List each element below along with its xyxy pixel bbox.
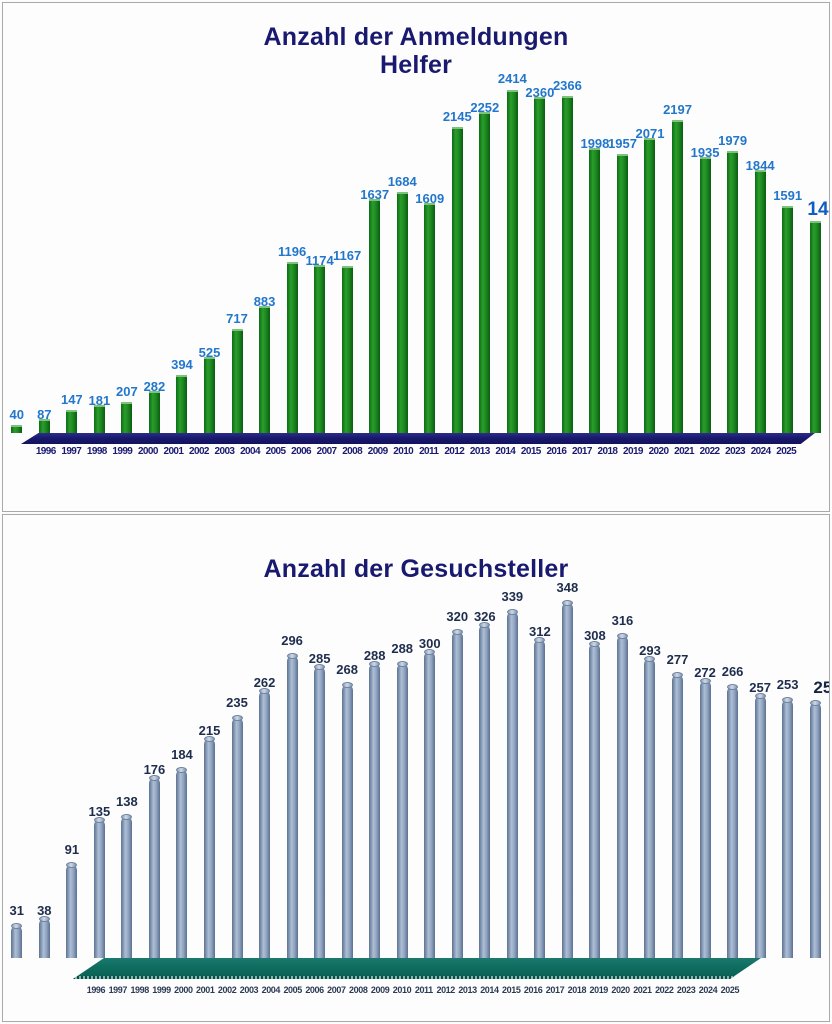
bar-slot: 296 xyxy=(278,603,306,958)
x-axis-tick: 2008 xyxy=(347,985,369,995)
bar xyxy=(479,625,490,958)
bar xyxy=(507,612,518,958)
bar xyxy=(644,659,655,958)
bar xyxy=(397,193,408,433)
x-axis-tick: 2008 xyxy=(339,446,365,457)
bar-slot: 1957 xyxy=(609,91,637,433)
bar-value-label: 1957 xyxy=(608,136,637,151)
bar-slot: 2414 xyxy=(499,91,527,433)
x-axis-tick: 2023 xyxy=(722,446,748,457)
bar xyxy=(287,656,298,958)
x-axis-tick: 2009 xyxy=(369,985,391,995)
bar xyxy=(397,664,408,958)
bar xyxy=(534,98,545,433)
bar xyxy=(452,632,463,958)
x-axis-tick: 2011 xyxy=(416,446,442,457)
bar-slot: 253 xyxy=(774,603,802,958)
x-axis-tick: 2003 xyxy=(212,446,238,457)
bar-slot: 2145 xyxy=(444,91,472,433)
bar xyxy=(727,687,738,958)
bar-slot: 288 xyxy=(361,603,389,958)
bar xyxy=(94,820,105,958)
x-axis-tick: 2021 xyxy=(631,985,653,995)
x-axis-tick: 1998 xyxy=(84,446,110,457)
bar-slot: 1998 xyxy=(581,91,609,433)
bar-value-label: 207 xyxy=(116,384,138,399)
bar xyxy=(94,406,105,433)
bar xyxy=(232,718,243,958)
x-axis-tick: 2024 xyxy=(748,446,774,457)
bar-value-label: 31 xyxy=(10,903,24,918)
bar-value-label: 1167 xyxy=(333,248,361,263)
bar-slot: 2197 xyxy=(664,91,692,433)
x-axis-tick: 2024 xyxy=(697,985,719,995)
x-axis-tick: 2002 xyxy=(186,446,212,457)
bar xyxy=(479,113,490,433)
bar-value-label: 266 xyxy=(722,664,744,679)
bar-slot: 525 xyxy=(196,91,224,433)
bar-value-label: 2197 xyxy=(663,102,692,117)
bar-slot: 31 xyxy=(3,603,31,958)
x-axis-tick: 2002 xyxy=(216,985,238,995)
bar-slot: 181 xyxy=(86,91,114,433)
bar-slot: 308 xyxy=(581,603,609,958)
bar-slot: 2071 xyxy=(636,91,664,433)
bar-slot: 1167 xyxy=(333,91,361,433)
bar-value-label: 320 xyxy=(446,609,468,624)
bar xyxy=(314,266,325,433)
x-axis-tick: 2013 xyxy=(467,446,493,457)
bar-slot: 293 xyxy=(636,603,664,958)
chart-base-gesuchsteller xyxy=(73,958,761,979)
bar xyxy=(369,200,380,433)
bar xyxy=(39,420,50,433)
bar-slot: 2360 xyxy=(526,91,554,433)
bar-value-label: 235 xyxy=(226,695,248,710)
bar xyxy=(149,778,160,958)
bar-slot: 1979 xyxy=(719,91,747,433)
x-axis-tick: 2010 xyxy=(390,446,416,457)
bar-series-helfer: 4087147181207282394525717883119611741167… xyxy=(3,91,829,433)
x-axis-tick: 2015 xyxy=(500,985,522,995)
chart-panel-gesuchsteller: Anzahl der Gesuchsteller 313891135138176… xyxy=(2,514,830,1022)
bar-value-label: 296 xyxy=(281,633,303,648)
x-axis-tick: 1997 xyxy=(59,446,85,457)
x-axis-tick: 2014 xyxy=(478,985,500,995)
bar-value-label-highlight: 1483 xyxy=(807,199,830,221)
bar-slot: 1935 xyxy=(691,91,719,433)
x-axis-tick: 2005 xyxy=(263,446,289,457)
bar xyxy=(66,865,77,958)
bar-slot: 320 xyxy=(444,603,472,958)
chart-base-helfer xyxy=(21,433,815,444)
x-axis-tick: 1996 xyxy=(85,985,107,995)
x-axis-tick: 2001 xyxy=(194,985,216,995)
bar xyxy=(11,926,22,958)
bar-value-label: 1196 xyxy=(278,244,306,259)
bar xyxy=(11,426,22,433)
bar xyxy=(369,664,380,958)
bar xyxy=(727,152,738,433)
x-axis-tick: 2018 xyxy=(566,985,588,995)
x-axis-tick: 2025 xyxy=(719,985,741,995)
bar-value-label: 277 xyxy=(667,652,689,667)
bar xyxy=(507,91,518,433)
bar xyxy=(204,358,215,433)
bar-slot: 207 xyxy=(113,91,141,433)
x-axis-tick: 2012 xyxy=(435,985,457,995)
bar-slot: 268 xyxy=(333,603,361,958)
bar-slot: 184 xyxy=(168,603,196,958)
bar-value-label: 268 xyxy=(336,662,358,677)
x-axis-tick: 1998 xyxy=(129,985,151,995)
bar xyxy=(259,307,270,433)
x-axis-tick: 1996 xyxy=(33,446,59,457)
bar xyxy=(589,644,600,958)
x-axis-tick: 1999 xyxy=(151,985,173,995)
bar xyxy=(342,267,353,433)
x-axis-tick: 2006 xyxy=(304,985,326,995)
chart-title-helfer-line1: Anzahl der Anmeldungen xyxy=(264,23,569,51)
bar-slot: 326 xyxy=(471,603,499,958)
x-axis-tick: 2004 xyxy=(260,985,282,995)
x-axis-tick: 2017 xyxy=(569,446,595,457)
bar xyxy=(562,97,573,433)
bar xyxy=(589,149,600,433)
bar xyxy=(259,691,270,958)
x-axis-tick: 2015 xyxy=(518,446,544,457)
bar xyxy=(700,681,711,958)
bar-value-label: 184 xyxy=(171,747,193,762)
x-axis-tick: 2020 xyxy=(610,985,632,995)
bar-value-label: 1684 xyxy=(388,174,417,189)
bar-slot: 1483 xyxy=(801,91,829,433)
bar-slot: 883 xyxy=(251,91,279,433)
bar-slot: 38 xyxy=(31,603,59,958)
x-axis-tick: 2016 xyxy=(522,985,544,995)
bar-value-label: 288 xyxy=(391,641,413,656)
bar-value-label: 2145 xyxy=(443,109,472,124)
chart-panel-helfer: Anzahl der Anmeldungen Helfer 4087147181… xyxy=(2,2,830,512)
x-axis-tick: 2000 xyxy=(135,446,161,457)
bar-slot: 1174 xyxy=(306,91,334,433)
x-axis-tick: 1997 xyxy=(107,985,129,995)
bar-slot: 348 xyxy=(554,603,582,958)
x-axis-tick: 2019 xyxy=(588,985,610,995)
x-axis-tick: 2006 xyxy=(288,446,314,457)
bar-slot: 91 xyxy=(58,603,86,958)
bar xyxy=(232,330,243,433)
bar xyxy=(672,675,683,958)
bar xyxy=(810,703,821,958)
x-axis-tick: 2017 xyxy=(544,985,566,995)
x-axis-tick: 2001 xyxy=(161,446,187,457)
x-axis-tick: 2016 xyxy=(544,446,570,457)
bar xyxy=(342,685,353,958)
bar-slot: 176 xyxy=(141,603,169,958)
x-axis-tick: 2021 xyxy=(671,446,697,457)
bar xyxy=(121,817,132,958)
bar-slot: 147 xyxy=(58,91,86,433)
bar-value-label: 717 xyxy=(226,311,248,326)
bar xyxy=(149,392,160,433)
bar-value-label: 394 xyxy=(171,357,193,372)
bar-slot: 288 xyxy=(388,603,416,958)
bar-slot: 339 xyxy=(499,603,527,958)
bar-slot: 262 xyxy=(251,603,279,958)
bar-slot: 1609 xyxy=(416,91,444,433)
bar xyxy=(452,128,463,433)
bar-slot: 2252 xyxy=(471,91,499,433)
bar-slot: 312 xyxy=(526,603,554,958)
bar xyxy=(810,222,821,433)
bar xyxy=(617,636,628,958)
bar xyxy=(424,652,435,958)
x-axis-tick: 2003 xyxy=(238,985,260,995)
chart-title-gesuchsteller: Anzahl der Gesuchsteller xyxy=(3,515,829,583)
bar xyxy=(644,139,655,433)
bar-slot: 282 xyxy=(141,91,169,433)
bar-value-label: 339 xyxy=(501,589,523,604)
x-axis-tick: 2007 xyxy=(325,985,347,995)
bar-slot: 316 xyxy=(609,603,637,958)
x-axis-tick: 2005 xyxy=(282,985,304,995)
bar xyxy=(534,640,545,958)
bar-slot: 1844 xyxy=(746,91,774,433)
bar xyxy=(287,263,298,433)
x-axis-gesuchsteller: 1996199719981999200020012002200320042005… xyxy=(85,985,741,995)
bar-value-label: 91 xyxy=(65,842,79,857)
bar-value-label: 138 xyxy=(116,794,138,809)
bar xyxy=(204,739,215,958)
x-axis-tick: 2023 xyxy=(675,985,697,995)
x-axis-tick: 2011 xyxy=(413,985,435,995)
bar-value-label: 2366 xyxy=(553,78,582,93)
bar-slot: 135 xyxy=(86,603,114,958)
bar-slot: 40 xyxy=(3,91,31,433)
bar-slot: 285 xyxy=(306,603,334,958)
x-axis-tick: 2000 xyxy=(172,985,194,995)
x-axis-tick: 2022 xyxy=(697,446,723,457)
bar-slot: 394 xyxy=(168,91,196,433)
bar xyxy=(782,700,793,958)
bar xyxy=(755,696,766,958)
bar-slot: 1591 xyxy=(774,91,802,433)
bar-slot: 300 xyxy=(416,603,444,958)
bar-slot: 277 xyxy=(664,603,692,958)
x-axis-tick: 2004 xyxy=(237,446,263,457)
bar xyxy=(424,204,435,433)
plot-area-gesuchsteller: 3138911351381761842152352622962852682882… xyxy=(3,603,829,958)
bar-slot: 250 xyxy=(801,603,829,958)
bar-value-label: 253 xyxy=(777,677,799,692)
bar xyxy=(700,158,711,433)
x-axis-tick: 2022 xyxy=(653,985,675,995)
bar-series-gesuchsteller: 3138911351381761842152352622962852682882… xyxy=(3,603,829,958)
bar xyxy=(176,770,187,958)
x-axis-tick: 2020 xyxy=(646,446,672,457)
bar xyxy=(617,155,628,433)
charts-page: Anzahl der Anmeldungen Helfer 4087147181… xyxy=(0,0,832,1024)
bar-slot: 215 xyxy=(196,603,224,958)
x-axis-tick: 2013 xyxy=(457,985,479,995)
bar xyxy=(176,376,187,433)
x-axis-helfer: 1996199719981999200020012002200320042005… xyxy=(33,446,799,457)
bar-slot: 272 xyxy=(691,603,719,958)
bar xyxy=(755,171,766,433)
bar xyxy=(562,603,573,958)
bar-value-label: 316 xyxy=(612,613,634,628)
chart-title-helfer-line2: Helfer xyxy=(3,51,829,79)
x-axis-tick: 2018 xyxy=(595,446,621,457)
bar-value-label-highlight: 250 xyxy=(813,678,830,698)
bar-slot: 138 xyxy=(113,603,141,958)
x-axis-tick: 2014 xyxy=(493,446,519,457)
bar-value-label: 1979 xyxy=(718,133,747,148)
bar-value-label: 1591 xyxy=(773,188,802,203)
bar xyxy=(782,207,793,433)
bar-value-label: 147 xyxy=(61,392,83,407)
chart-title-gesuchsteller-line1: Anzahl der Gesuchsteller xyxy=(264,555,569,583)
x-axis-tick: 2009 xyxy=(365,446,391,457)
bar xyxy=(121,403,132,433)
bar-slot: 2366 xyxy=(554,91,582,433)
bar-slot: 1196 xyxy=(278,91,306,433)
bar-slot: 257 xyxy=(746,603,774,958)
bar-slot: 717 xyxy=(223,91,251,433)
bar-value-label: 40 xyxy=(10,407,24,422)
x-axis-tick: 2007 xyxy=(314,446,340,457)
bar-slot: 1637 xyxy=(361,91,389,433)
x-axis-tick: 2025 xyxy=(773,446,799,457)
bar-slot: 87 xyxy=(31,91,59,433)
chart-title-helfer: Anzahl der Anmeldungen Helfer xyxy=(3,3,829,79)
plot-area-helfer: 4087147181207282394525717883119611741167… xyxy=(3,91,829,433)
bar-slot: 266 xyxy=(719,603,747,958)
bar xyxy=(39,919,50,958)
x-axis-tick: 2019 xyxy=(620,446,646,457)
bar xyxy=(314,667,325,958)
bar xyxy=(66,411,77,433)
bar xyxy=(672,121,683,433)
x-axis-tick: 2012 xyxy=(442,446,468,457)
x-axis-tick: 2010 xyxy=(391,985,413,995)
bar-slot: 1684 xyxy=(388,91,416,433)
x-axis-tick: 1999 xyxy=(110,446,136,457)
bar-slot: 235 xyxy=(223,603,251,958)
